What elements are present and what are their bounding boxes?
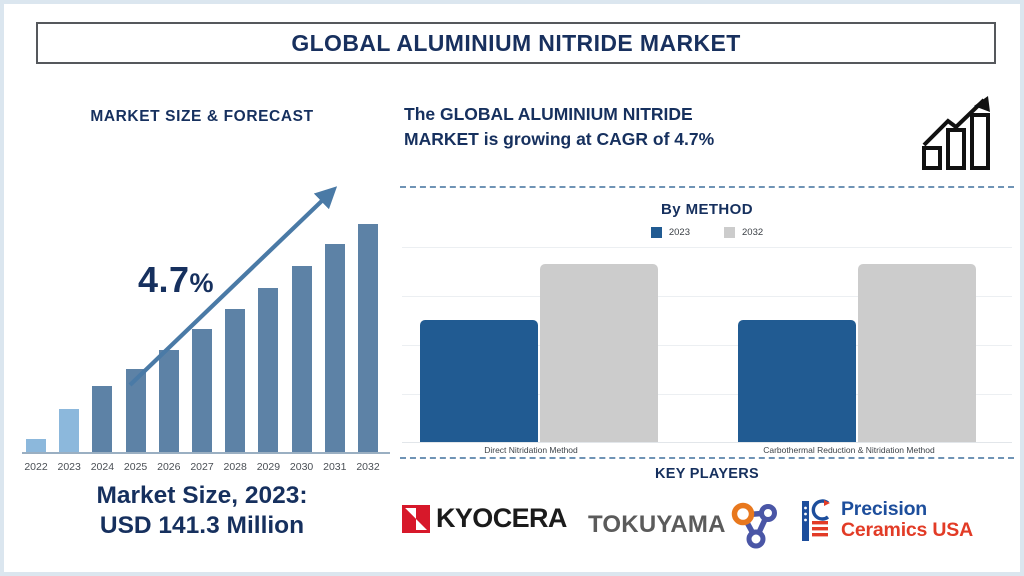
forecast-bar (358, 224, 378, 453)
method-bar (540, 264, 658, 442)
growth-statement-line-1: The GLOBAL ALUMINIUM NITRIDE (404, 102, 884, 127)
forecast-bar (126, 369, 146, 453)
precision-word: Precision (841, 499, 973, 520)
tokuyama-wordmark: TOKUYAMA (588, 511, 726, 539)
ceramics-usa-word: Ceramics USA (841, 520, 973, 541)
forecast-year-label: 2029 (253, 461, 283, 473)
key-players-heading: KEY PLAYERS (394, 466, 1020, 482)
market-size-forecast-panel: MARKET SIZE & FORECAST 4.7% 202220232024… (12, 89, 392, 569)
method-category-label: Direct Nitridation Method (400, 445, 662, 455)
forecast-bar (159, 350, 179, 453)
forecast-bar-chart (12, 159, 392, 454)
infographic-canvas: GLOBAL ALUMINIUM NITRIDE MARKET MARKET S… (0, 0, 1024, 576)
logo-tokuyama: TOKUYAMA (588, 501, 778, 549)
forecast-year-label: 2025 (121, 461, 151, 473)
growth-statement-line-2: MARKET is growing at CAGR of 4.7% (404, 127, 884, 152)
forecast-year-label: 2032 (353, 461, 383, 473)
forecast-year-label: 2030 (287, 461, 317, 473)
forecast-bar (325, 244, 345, 453)
left-panel-heading: MARKET SIZE & FORECAST (12, 108, 392, 126)
legend-item[interactable]: 2032 (724, 227, 763, 238)
forecast-year-label: 2026 (154, 461, 184, 473)
gridline (402, 247, 1012, 248)
method-chart-baseline (402, 442, 1012, 443)
forecast-year-label: 2024 (87, 461, 117, 473)
legend-label: 2023 (669, 227, 690, 238)
method-bar (738, 320, 856, 442)
forecast-bar (59, 409, 79, 453)
logo-precision-ceramics-usa: Precision Ceramics USA (802, 497, 973, 543)
legend-label: 2032 (742, 227, 763, 238)
page-title: GLOBAL ALUMINIUM NITRIDE MARKET (291, 30, 740, 57)
kyocera-mark-icon (402, 505, 430, 533)
forecast-bar (225, 309, 245, 453)
forecast-year-label: 2027 (187, 461, 217, 473)
forecast-year-label: 2028 (220, 461, 250, 473)
forecast-bar (92, 386, 112, 453)
forecast-year-label: 2023 (54, 461, 84, 473)
method-bar (858, 264, 976, 442)
market-detail-panel: The GLOBAL ALUMINIUM NITRIDE MARKET is g… (394, 89, 1020, 574)
logo-kyocera: KYOCERA (402, 503, 567, 534)
method-bar-chart (402, 247, 1012, 443)
chart-legend: 20232032 (394, 227, 1020, 238)
segment-heading: By METHOD (394, 201, 1020, 218)
key-players-logos: KYOCERA TOKUYAMA (394, 491, 1020, 561)
forecast-bar (292, 266, 312, 453)
divider-bottom (400, 457, 1014, 459)
title-box: GLOBAL ALUMINIUM NITRIDE MARKET (36, 22, 996, 64)
precision-ceramics-flag-icon (802, 497, 834, 543)
forecast-bar (26, 439, 46, 453)
forecast-bar (192, 329, 212, 453)
chart-baseline (22, 452, 390, 454)
method-category-label: Carbothermal Reduction & Nitridation Met… (718, 445, 980, 455)
legend-swatch-icon (724, 227, 735, 238)
precision-ceramics-wordmark: Precision Ceramics USA (841, 499, 973, 541)
forecast-year-label: 2022 (21, 461, 51, 473)
legend-swatch-icon (651, 227, 662, 238)
kyocera-wordmark: KYOCERA (436, 503, 567, 534)
forecast-year-label: 2031 (320, 461, 350, 473)
tokuyama-molecule-icon (728, 501, 778, 549)
divider-top (400, 186, 1014, 188)
market-size-value: USD 141.3 Million (12, 511, 392, 541)
method-bar (420, 320, 538, 442)
legend-item[interactable]: 2023 (651, 227, 690, 238)
market-size-label: Market Size, 2023: (12, 481, 392, 511)
bar-chart-growth-icon (918, 93, 1006, 171)
market-size-callout: Market Size, 2023: USD 141.3 Million (12, 481, 392, 541)
growth-statement: The GLOBAL ALUMINIUM NITRIDE MARKET is g… (404, 102, 884, 153)
forecast-bar (258, 288, 278, 453)
